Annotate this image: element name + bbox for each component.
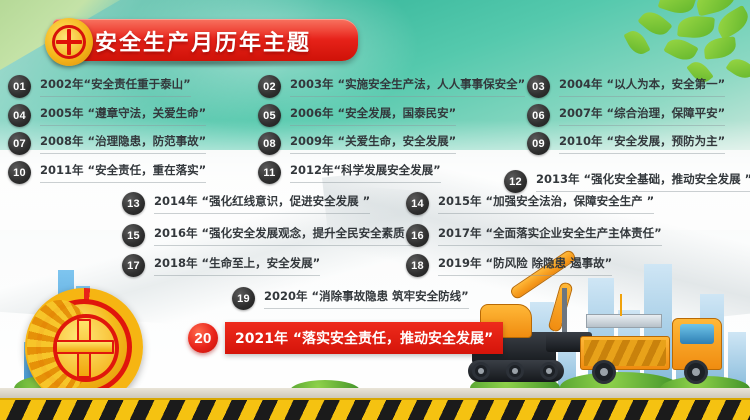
list-item[interactable]: 19 2020年 “消除事故隐患 筑牢安全防线” — [232, 287, 469, 310]
list-item[interactable]: 16 2017年 “全面落实企业安全生产主体责任” — [406, 224, 662, 247]
list-item[interactable]: 12 2013年 “强化安全基础，推动安全发展 ” — [504, 170, 750, 193]
item-text: 2015年 “加强安全法治，保障安全生产 ” — [438, 193, 654, 214]
item-text: 2020年 “消除事故隐患 筑牢安全防线” — [264, 288, 469, 309]
item-text: 2021年 “落实安全责任，推动安全发展” — [225, 322, 503, 354]
list-item[interactable]: 13 2014年 “强化红线意识，促进安全发展 ” — [122, 192, 370, 215]
item-number: 11 — [258, 161, 281, 184]
item-text: 2003年 “实施安全生产法，人人事事保安全” — [290, 76, 525, 97]
item-number: 17 — [122, 254, 145, 277]
item-number: 02 — [258, 75, 281, 98]
item-number: 07 — [8, 132, 31, 155]
ground-strip — [0, 388, 750, 398]
item-number: 18 — [406, 254, 429, 277]
item-number: 10 — [8, 161, 31, 184]
item-number: 16 — [406, 224, 429, 247]
list-item[interactable]: 03 2004年 “以人为本，安全第一” — [527, 75, 725, 98]
list-item[interactable]: 09 2010年 “安全发展，预防为主” — [527, 132, 725, 155]
list-item[interactable]: 04 2005年 “遵章守法，关爱生命” — [8, 104, 206, 127]
hazard-stripe-icon — [0, 398, 750, 420]
slide-canvas: 安全生产月历年主题 01 2002年“安全责任重于泰山” 02 2003年 “实… — [0, 0, 750, 420]
item-text: 2006年 “安全发展，国泰民安” — [290, 105, 456, 126]
item-number: 01 — [8, 75, 31, 98]
item-text: 2002年“安全责任重于泰山” — [40, 76, 191, 97]
item-number: 04 — [8, 104, 31, 127]
item-number: 09 — [527, 132, 550, 155]
list-item[interactable]: 14 2015年 “加强安全法治，保障安全生产 ” — [406, 192, 654, 215]
list-item[interactable]: 07 2008年 “治理隐患，防范事故” — [8, 132, 206, 155]
item-number: 14 — [406, 192, 429, 215]
list-item[interactable]: 02 2003年 “实施安全生产法，人人事事保安全” — [258, 75, 525, 98]
item-text: 2007年 “综合治理，保障平安” — [559, 105, 725, 126]
item-number: 05 — [258, 104, 281, 127]
item-number: 03 — [527, 75, 550, 98]
item-text: 2016年 “强化安全发展观念，提升全民安全素质 ” — [154, 225, 416, 246]
item-number: 12 — [504, 170, 527, 193]
list-item[interactable]: 18 2019年 “防风险 除隐患 遏事故” — [406, 254, 612, 277]
list-item[interactable]: 11 2012年“科学发展安全发展” — [258, 161, 441, 184]
item-number: 19 — [232, 287, 255, 310]
item-text: 2013年 “强化安全基础，推动安全发展 ” — [536, 171, 750, 192]
list-item[interactable]: 10 2011年 “安全责任，重在落实” — [8, 161, 206, 184]
list-item[interactable]: 06 2007年 “综合治理，保障平安” — [527, 104, 725, 127]
list-item[interactable]: 17 2018年 “生命至上，安全发展” — [122, 254, 320, 277]
item-text: 2012年“科学发展安全发展” — [290, 162, 441, 183]
item-text: 2005年 “遵章守法，关爱生命” — [40, 105, 206, 126]
item-number: 06 — [527, 104, 550, 127]
item-text: 2018年 “生命至上，安全发展” — [154, 255, 320, 276]
item-text: 2009年 “关爱生命，安全发展” — [290, 133, 456, 154]
list-item[interactable]: 15 2016年 “强化安全发展观念，提升全民安全素质 ” — [122, 224, 416, 247]
list-item[interactable]: 01 2002年“安全责任重于泰山” — [8, 75, 191, 98]
item-text: 2008年 “治理隐患，防范事故” — [40, 133, 206, 154]
item-number: 20 — [188, 323, 218, 353]
item-text: 2010年 “安全发展，预防为主” — [559, 133, 725, 154]
item-text: 2014年 “强化红线意识，促进安全发展 ” — [154, 193, 370, 214]
list-item[interactable]: 08 2009年 “关爱生命，安全发展” — [258, 132, 456, 155]
item-text: 2011年 “安全责任，重在落实” — [40, 162, 206, 183]
item-text: 2004年 “以人为本，安全第一” — [559, 76, 725, 97]
item-number: 08 — [258, 132, 281, 155]
list-item-highlighted[interactable]: 20 2021年 “落实安全责任，推动安全发展” — [188, 322, 503, 354]
item-number: 13 — [122, 192, 145, 215]
item-text: 2019年 “防风险 除隐患 遏事故” — [438, 255, 612, 276]
item-number: 15 — [122, 224, 145, 247]
item-text: 2017年 “全面落实企业安全生产主体责任” — [438, 225, 662, 246]
list-item[interactable]: 05 2006年 “安全发展，国泰民安” — [258, 104, 456, 127]
